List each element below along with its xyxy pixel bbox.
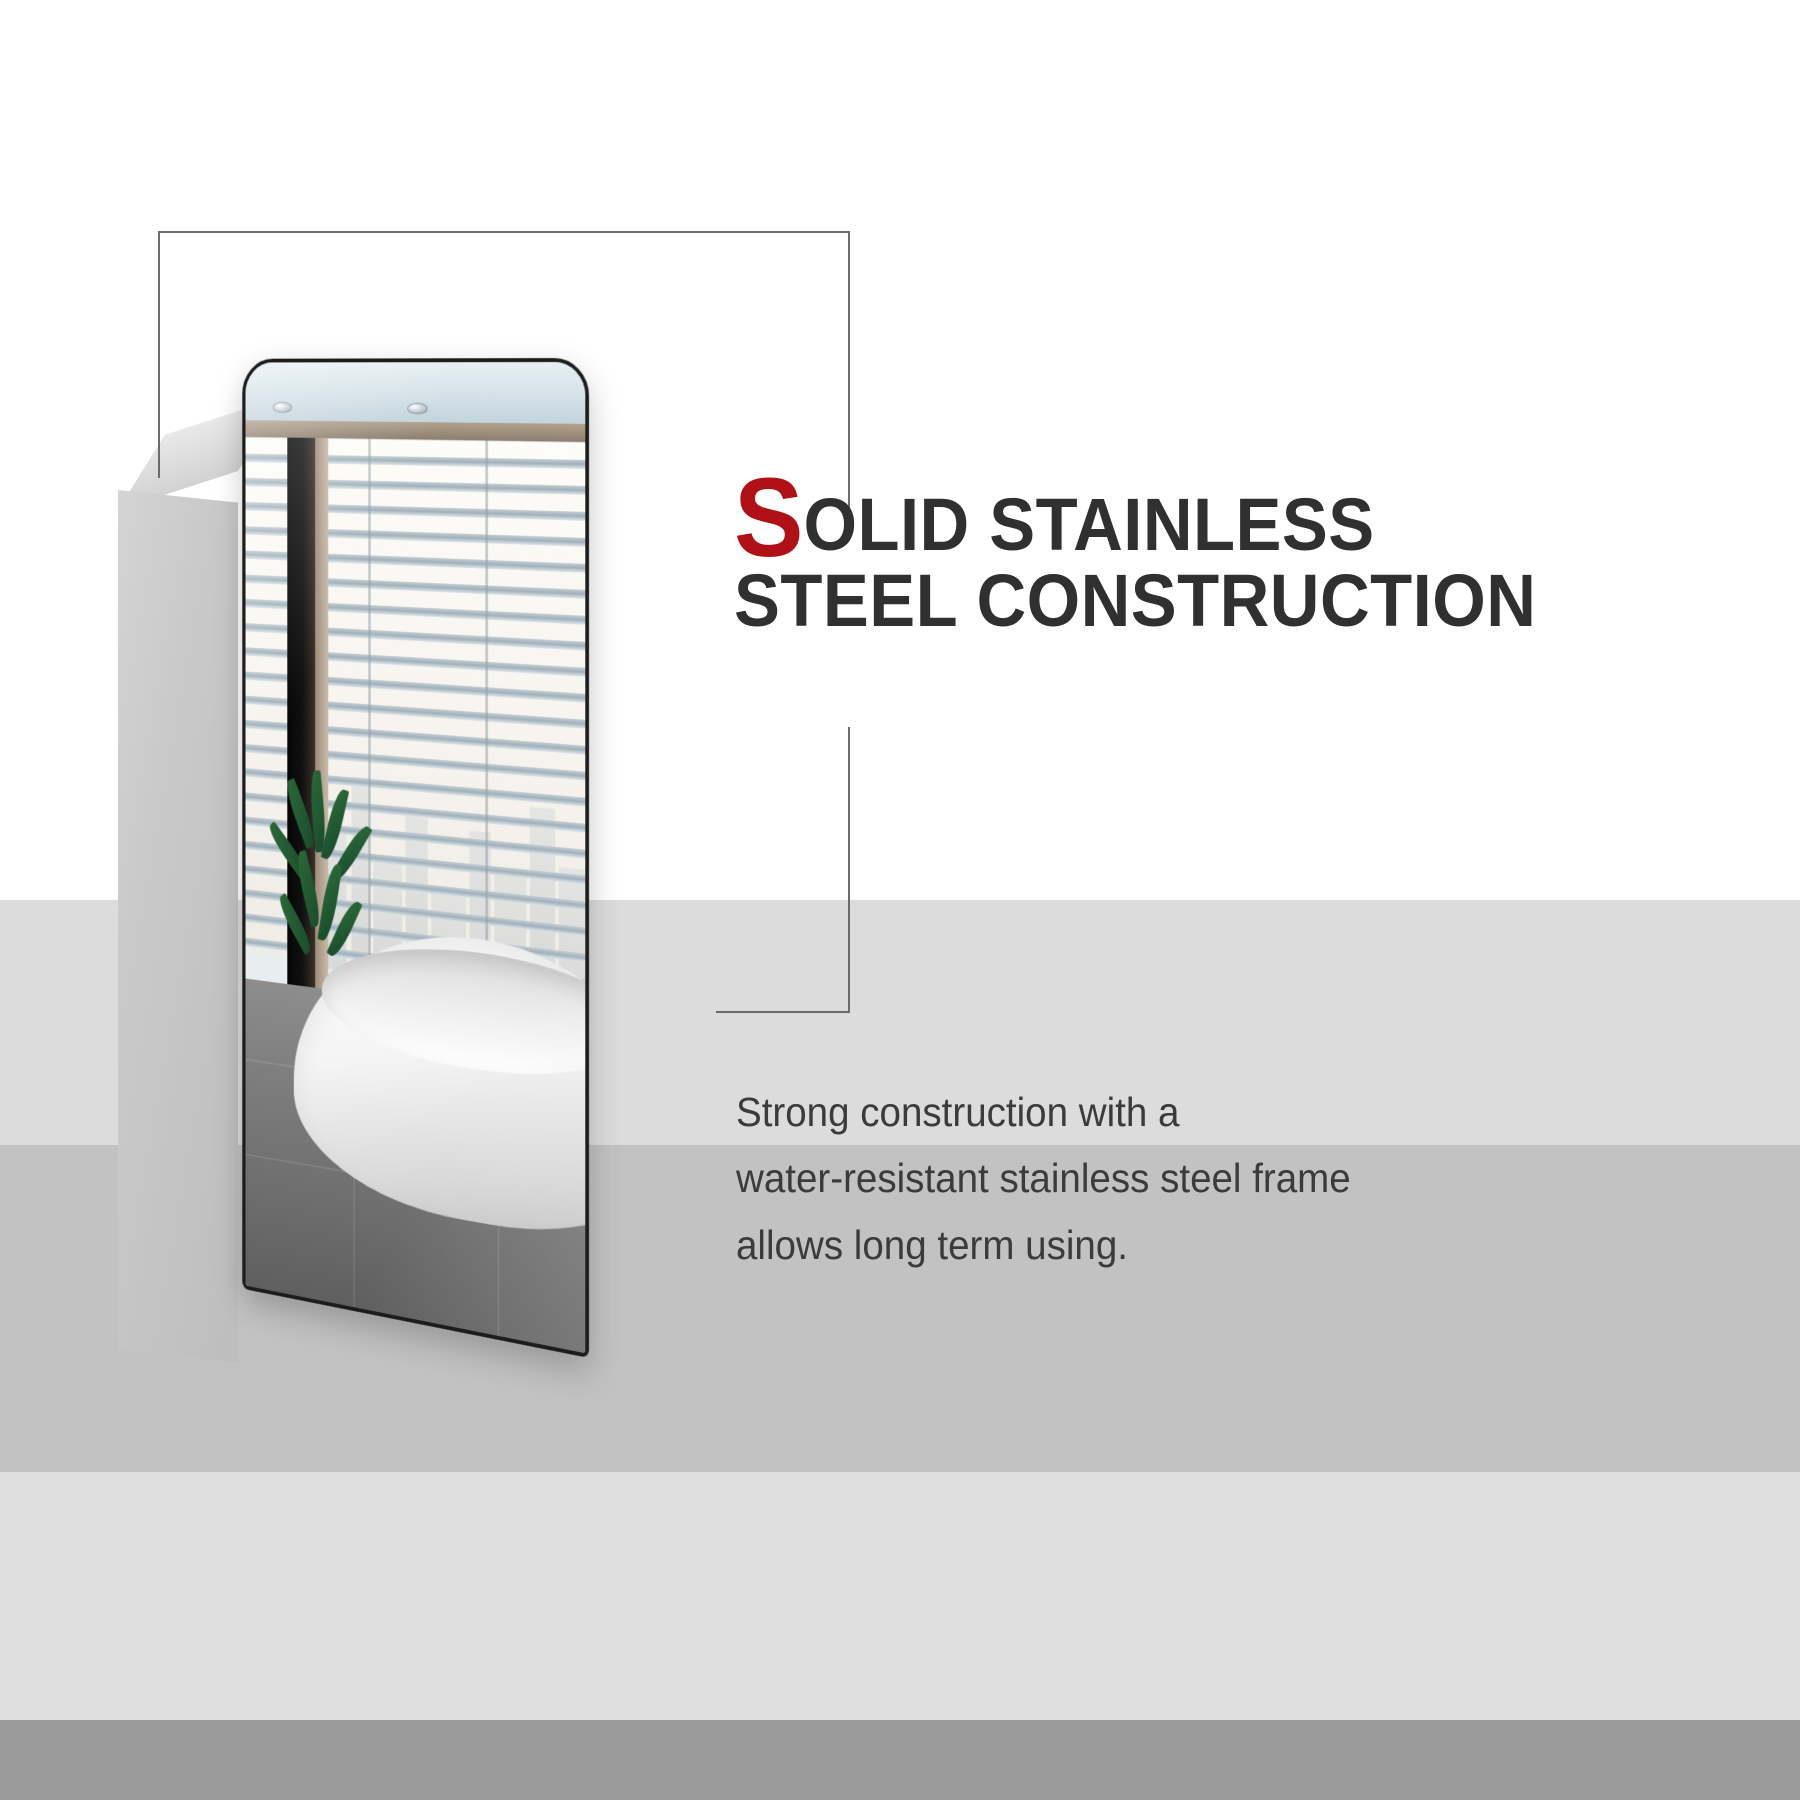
mirror-reflection-scene: [246, 362, 586, 1353]
headline-line1-rest: OLID STAINLESS: [803, 483, 1374, 566]
description-line-2: water-resistant stainless steel frame: [736, 1155, 1351, 1201]
mount-screw-right: [407, 403, 428, 415]
description-line-3: allows long term using.: [736, 1222, 1128, 1268]
product-image: [100, 330, 800, 1460]
description-line-1: Strong construction with a: [736, 1089, 1179, 1135]
feature-description: Strong construction with a water-resista…: [736, 1079, 1516, 1278]
callout-bracket-right-vertical-upper: [848, 231, 850, 514]
callout-bracket-top-horizontal: [158, 231, 850, 233]
background-band-lower-gray: [0, 1472, 1800, 1720]
mount-screw-left: [273, 402, 292, 413]
callout-bracket-right-vertical-lower: [848, 727, 850, 1013]
mirror-top-glass-strip: [246, 362, 586, 424]
cabinet-body-panel: [118, 490, 238, 1363]
feature-headline: SOLID STAINLESSSTEEL CONSTRUCTION: [734, 478, 1673, 638]
background-band-footer-gray: [0, 1720, 1800, 1800]
banner-canvas: SOLID STAINLESSSTEEL CONSTRUCTION Strong…: [0, 0, 1800, 1800]
callout-bracket-bottom-horizontal: [716, 1011, 850, 1013]
callout-bracket-left-vertical: [158, 231, 160, 478]
blind-cord-right: [485, 433, 488, 1001]
headline-line2: STEEL CONSTRUCTION: [734, 565, 1673, 638]
mirror-door-panel: [242, 358, 589, 1358]
